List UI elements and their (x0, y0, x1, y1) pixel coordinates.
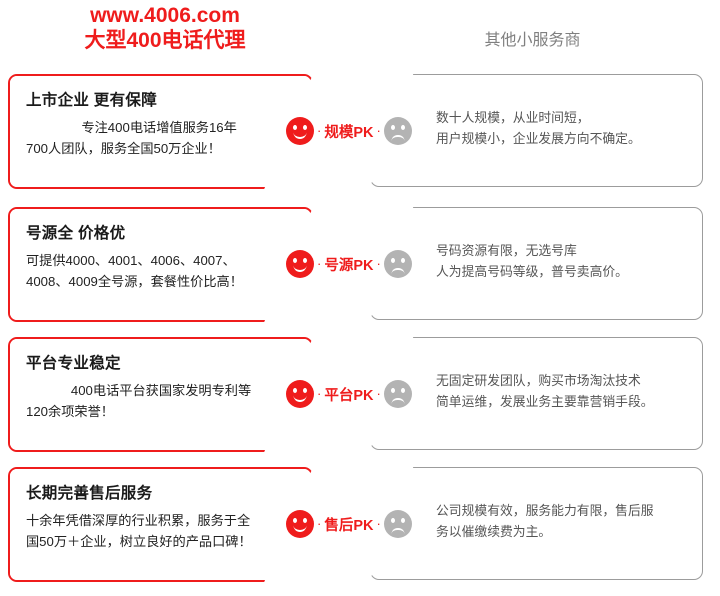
advantage-body-line-2: 700人团队，服务全国50万企业！ (26, 139, 274, 159)
separator-dot-left: · (317, 387, 321, 400)
drawback-body-line-1: 公司规模有效，服务能力有限，售后服 (436, 501, 694, 522)
pk-badge: · 售后PK · (286, 507, 412, 541)
advantage-card: 上市企业 更有保障 专注400电话增值服务16年 700人团队，服务全国50万企… (8, 74, 313, 189)
comparison-row: 长期完善售后服务 十余年凭借深厚的行业积累，服务于全 国50万＋企业，树立良好的… (0, 459, 720, 589)
pk-label: 号源PK (324, 254, 373, 275)
pk-badge: · 平台PK · (286, 377, 412, 411)
separator-dot-right: · (377, 517, 381, 530)
drawback-card-content: 号码资源有限，无选号库 人为提高号码等级，普号卖高价。 (436, 241, 694, 282)
brand-header: www.4006.com 大型400电话代理 (0, 4, 330, 54)
advantage-title: 平台专业稳定 (26, 354, 274, 374)
pk-badge: · 号源PK · (286, 247, 412, 281)
advantage-card: 长期完善售后服务 十余年凭借深厚的行业积累，服务于全 国50万＋企业，树立良好的… (8, 467, 313, 582)
separator-dot-right: · (377, 257, 381, 270)
comparison-row: 上市企业 更有保障 专注400电话增值服务16年 700人团队，服务全国50万企… (0, 66, 720, 199)
separator-dot-left: · (317, 257, 321, 270)
drawback-card-content: 无固定研发团队，购买市场淘汰技术 简单运维，发展业务主要靠营销手段。 (436, 371, 694, 412)
advantage-card: 号源全 价格优 可提供4000、4001、4006、4007、 4008、400… (8, 207, 313, 322)
drawback-card-content: 公司规模有效，服务能力有限，售后服 务以催缴续费为主。 (436, 501, 694, 542)
pk-label: 平台PK (324, 384, 373, 405)
advantage-card-content: 号源全 价格优 可提供4000、4001、4006、4007、 4008、400… (26, 224, 274, 292)
separator-dot-right: · (377, 124, 381, 137)
smiley-sad-icon (384, 510, 412, 538)
competitor-header: 其他小服务商 (360, 26, 705, 50)
drawback-card: 号码资源有限，无选号库 人为提高号码等级，普号卖高价。 (370, 207, 703, 320)
advantage-card: 平台专业稳定 400电话平台获国家发明专利等 120余项荣誉！ (8, 337, 313, 452)
advantage-body-line-1: 十余年凭借深厚的行业积累，服务于全 (26, 511, 274, 531)
advantage-body-line-1: 可提供4000、4001、4006、4007、 (26, 251, 274, 271)
brand-tagline: 大型400电话代理 (0, 29, 330, 54)
separator-dot-left: · (317, 124, 321, 137)
drawback-body-line-1: 数十人规模，从业时间短， (436, 108, 694, 129)
smiley-sad-icon (384, 380, 412, 408)
drawback-body-line-1: 号码资源有限，无选号库 (436, 241, 694, 262)
advantage-title: 号源全 价格优 (26, 224, 274, 244)
brand-website: www.4006.com (0, 4, 330, 29)
comparison-row: 平台专业稳定 400电话平台获国家发明专利等 120余项荣誉！ · 平台PK ·… (0, 329, 720, 459)
advantage-body-line-2: 120余项荣誉！ (26, 402, 274, 422)
separator-dot-right: · (377, 387, 381, 400)
advantage-title: 上市企业 更有保障 (26, 91, 274, 111)
drawback-body-line-2: 人为提高号码等级，普号卖高价。 (436, 262, 694, 283)
advantage-card-content: 长期完善售后服务 十余年凭借深厚的行业积累，服务于全 国50万＋企业，树立良好的… (26, 484, 274, 552)
smiley-happy-icon (286, 380, 314, 408)
advantage-body-line-1: 专注400电话增值服务16年 (26, 118, 274, 138)
smiley-happy-icon (286, 510, 314, 538)
smiley-happy-icon (286, 250, 314, 278)
drawback-card: 数十人规模，从业时间短， 用户规模小，企业发展方向不确定。 (370, 74, 703, 187)
advantage-title: 长期完善售后服务 (26, 484, 274, 504)
pk-label: 规模PK (324, 121, 373, 142)
drawback-card: 公司规模有效，服务能力有限，售后服 务以催缴续费为主。 (370, 467, 703, 580)
drawback-body-line-2: 用户规模小，企业发展方向不确定。 (436, 129, 694, 150)
separator-dot-left: · (317, 517, 321, 530)
drawback-body-line-2: 简单运维，发展业务主要靠营销手段。 (436, 392, 694, 413)
advantage-body-line-1: 400电话平台获国家发明专利等 (26, 381, 274, 401)
advantage-card-content: 平台专业稳定 400电话平台获国家发明专利等 120余项荣誉！ (26, 354, 274, 422)
smiley-happy-icon (286, 117, 314, 145)
pk-label: 售后PK (324, 514, 373, 535)
pk-badge: · 规模PK · (286, 114, 412, 148)
advantage-card-content: 上市企业 更有保障 专注400电话增值服务16年 700人团队，服务全国50万企… (26, 91, 274, 159)
smiley-sad-icon (384, 117, 412, 145)
comparison-row: 号源全 价格优 可提供4000、4001、4006、4007、 4008、400… (0, 199, 720, 329)
advantage-body-line-2: 4008、4009全号源，套餐性价比高！ (26, 272, 274, 292)
drawback-body-line-1: 无固定研发团队，购买市场淘汰技术 (436, 371, 694, 392)
drawback-card-content: 数十人规模，从业时间短， 用户规模小，企业发展方向不确定。 (436, 108, 694, 149)
drawback-card: 无固定研发团队，购买市场淘汰技术 简单运维，发展业务主要靠营销手段。 (370, 337, 703, 450)
advantage-body-line-2: 国50万＋企业，树立良好的产品口碑！ (26, 532, 274, 552)
drawback-body-line-2: 务以催缴续费为主。 (436, 522, 694, 543)
page-headers: www.4006.com 大型400电话代理 其他小服务商 (0, 0, 720, 66)
smiley-sad-icon (384, 250, 412, 278)
